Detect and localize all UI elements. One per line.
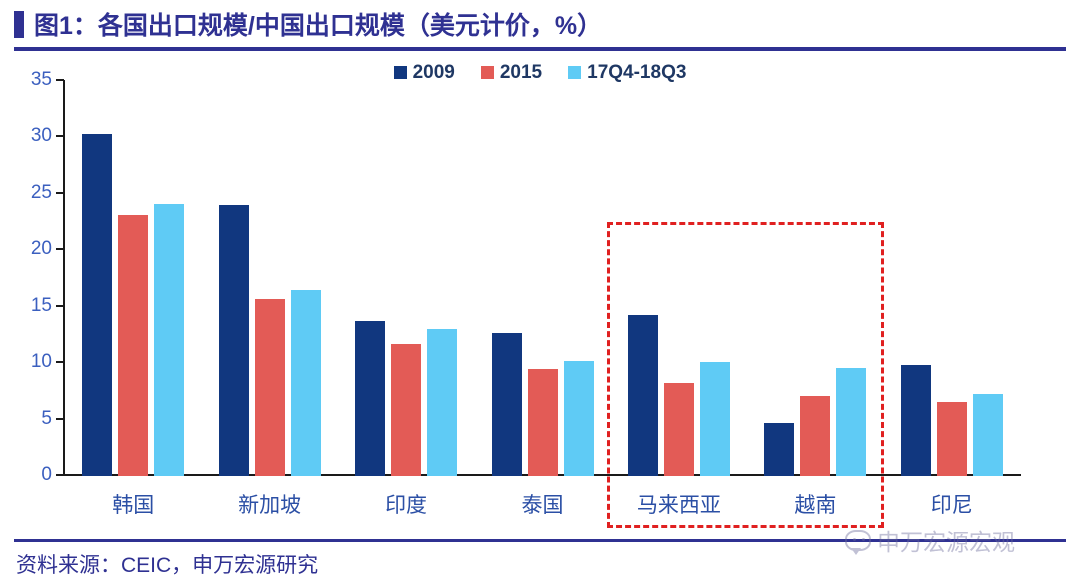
x-axis-label-印度: 印度 [385,489,427,519]
x-axis-label-新加坡: 新加坡 [238,489,301,519]
source-note: 资料来源：CEIC，申万宏源研究 [16,549,318,579]
chart-figure: 图1：各国出口规模/中国出口规模（美元计价，%） 2009201517Q4-18… [0,0,1080,587]
x-axis-label-印尼: 印尼 [931,489,973,519]
wechat-logo-icon [845,530,871,551]
highlight-region-box [607,222,884,528]
x-axis-category-labels: 韩国新加坡印度泰国马来西亚越南印尼 [0,0,1080,587]
watermark: 申万宏源宏观 [845,523,1015,557]
x-axis-label-泰国: 泰国 [522,489,564,519]
watermark-label: 申万宏源宏观 [877,523,1015,557]
x-axis-label-韩国: 韩国 [112,489,154,519]
